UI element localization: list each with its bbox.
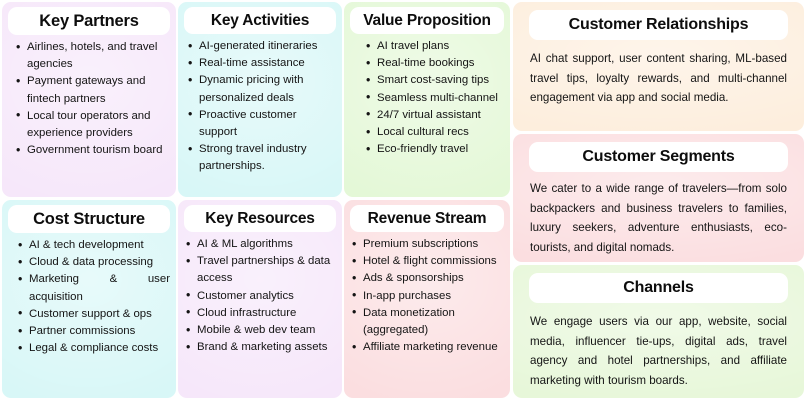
list-item: Seamless multi-channel [364,90,504,107]
key-partners-list: Airlines, hotels, and travel agencies Pa… [8,39,170,159]
list-item: Ads & sponsorships [350,270,504,287]
list-item: Payment gateways and fintech partners [14,73,170,107]
channels-body: We engage users via our app, website, so… [530,312,787,390]
customer-segments-body: We cater to a wide range of travelers—fr… [530,179,787,257]
block-key-activities: Key Activities AI-generated itineraries … [178,2,342,197]
block-title-cost-structure: Cost Structure [8,205,170,233]
list-item: Local tour operators and experience prov… [14,108,170,142]
list-item: Strong travel industry partnerships. [186,141,336,175]
block-key-partners: Key Partners Airlines, hotels, and trave… [2,2,176,197]
list-item: Customer analytics [184,288,336,305]
value-proposition-list: AI travel plans Real-time bookings Smart… [350,38,504,158]
block-value-proposition: Value Proposition AI travel plans Real-t… [344,2,510,197]
list-item: AI & tech development [16,237,170,254]
block-title-customer-segments: Customer Segments [529,142,788,172]
list-item: Partner commissions [16,323,170,340]
block-title-channels: Channels [529,273,788,303]
list-item: Data monetization (aggregated) [350,305,504,339]
list-item: Legal & compliance costs [16,340,170,357]
list-item: AI-generated itineraries [186,38,336,55]
list-item: Real-time assistance [186,55,336,72]
block-title-key-resources: Key Resources [184,205,336,232]
block-title-key-activities: Key Activities [184,7,336,34]
revenue-stream-list: Premium subscriptions Hotel & flight com… [350,236,504,356]
list-item: Mobile & web dev team [184,322,336,339]
list-item: Marketing & user acquisition [16,271,170,305]
list-item: Cloud infrastructure [184,305,336,322]
list-item: Cloud & data processing [16,254,170,271]
list-item: 24/7 virtual assistant [364,107,504,124]
block-key-resources: Key Resources AI & ML algorithms Travel … [178,200,342,398]
customer-relationships-body: AI chat support, user content sharing, M… [530,49,787,108]
list-item: Hotel & flight commissions [350,253,504,270]
key-resources-list: AI & ML algorithms Travel partnerships &… [184,236,336,356]
list-item: AI travel plans [364,38,504,55]
list-item: AI & ML algorithms [184,236,336,253]
block-title-key-partners: Key Partners [8,7,170,35]
list-item-text: Marketing & user acquisition [29,271,170,305]
list-item: Proactive customer support [186,107,336,141]
business-model-canvas: Key Partners Airlines, hotels, and trave… [0,0,806,400]
block-revenue-stream: Revenue Stream Premium subscriptions Hot… [344,200,510,398]
list-item: Eco-friendly travel [364,141,504,158]
list-item: In-app purchases [350,288,504,305]
list-item: Airlines, hotels, and travel agencies [14,39,170,73]
list-item: Travel partnerships & data access [184,253,336,287]
list-item: Affiliate marketing revenue [350,339,504,356]
block-title-value-proposition: Value Proposition [350,7,504,34]
list-item: Smart cost-saving tips [364,72,504,89]
block-customer-segments: Customer Segments We cater to a wide ran… [513,134,804,262]
block-title-revenue-stream: Revenue Stream [350,205,504,232]
block-title-customer-relationships: Customer Relationships [529,10,788,40]
list-item: Dynamic pricing with personalized deals [186,72,336,106]
key-activities-list: AI-generated itineraries Real-time assis… [184,38,336,176]
list-item: Real-time bookings [364,55,504,72]
block-channels: Channels We engage users via our app, we… [513,265,804,398]
list-item: Customer support & ops [16,306,170,323]
block-customer-relationships: Customer Relationships AI chat support, … [513,2,804,131]
list-item: Premium subscriptions [350,236,504,253]
list-item: Government tourism board [14,142,170,159]
cost-structure-list: AI & tech development Cloud & data proce… [8,237,170,357]
list-item: Local cultural recs [364,124,504,141]
list-item: Brand & marketing assets [184,339,336,356]
block-cost-structure: Cost Structure AI & tech development Clo… [2,200,176,398]
